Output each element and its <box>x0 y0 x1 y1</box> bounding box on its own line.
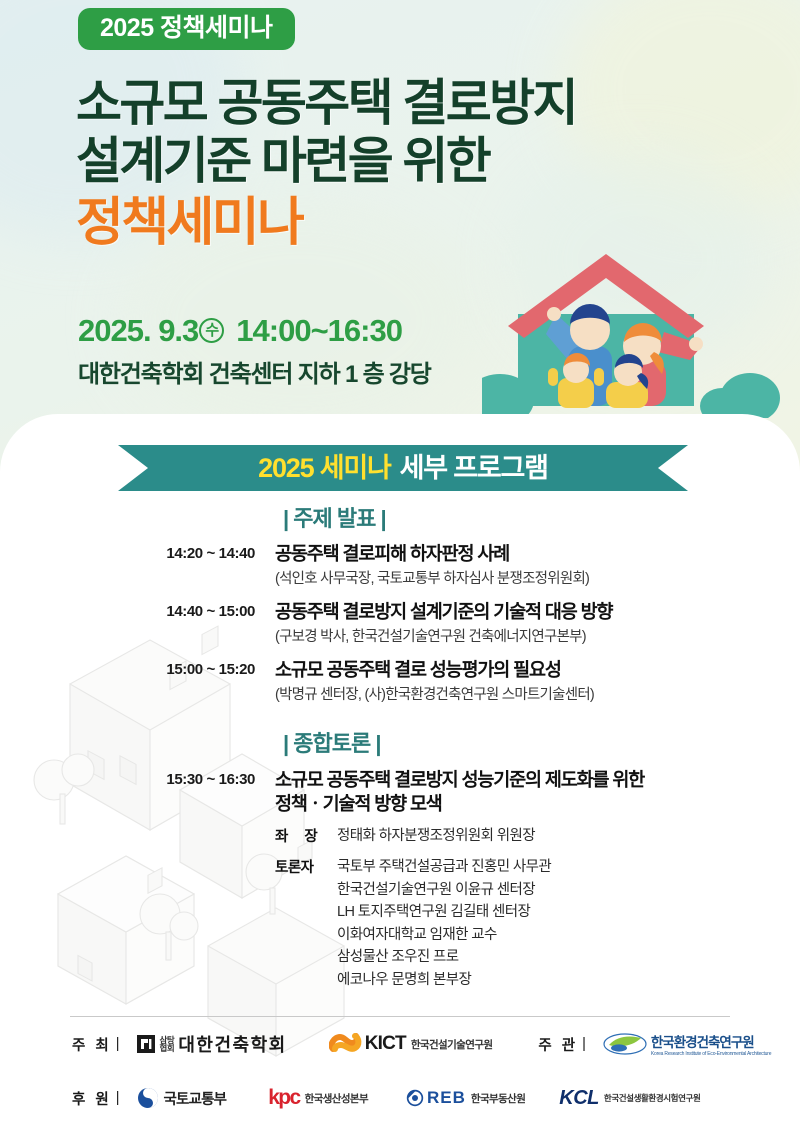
panelist-item: 에코나우 문명희 본부장 <box>337 969 551 991</box>
ribbon-label: 2025 세미나 세부 프로그램 <box>118 445 688 491</box>
page-title: 소규모 공동주택 결로방지 설계기준 마련을 위한 정책세미나 <box>76 74 736 255</box>
session-time: 15:00 ~ 15:20 <box>140 658 275 678</box>
aik-icon <box>137 1035 155 1053</box>
sponsor-label-group: 후 원 | <box>72 1088 123 1109</box>
krie-sub: Korea Research Institute of Eco-Environm… <box>651 1052 771 1058</box>
seminar-badge: 2025 정책세미나 <box>78 8 295 50</box>
chair-label: 좌 장 <box>275 825 337 846</box>
discussion-title-line-1: 소규모 공동주택 결로방지 성능기준의 제도화를 위한 <box>275 768 705 792</box>
section-heading-discussion: | 종합토론 | <box>283 731 800 757</box>
kpc-name: 한국생산성본부 <box>305 1091 368 1106</box>
seminar-poster: 2025 정책세미나 소규모 공동주택 결로방지 설계기준 마련을 위한 정책세… <box>0 0 800 1131</box>
session-speaker: (구보경 박사, 한국건설기술연구원 건축에너지연구본부) <box>275 628 800 648</box>
session-row: 14:40 ~ 15:00 공동주택 결로방지 설계기준의 기술적 대응 방향 … <box>0 600 800 648</box>
krie-icon <box>603 1032 647 1056</box>
reb-word: REB <box>427 1088 466 1108</box>
program-ribbon: 2025 세미나 세부 프로그램 <box>118 445 688 491</box>
panelist-item: 국토부 주택건설공급과 진홍민 사무관 <box>337 856 551 878</box>
aik-mark-icon <box>137 1035 155 1053</box>
logo-aik: 삼탕협회 대한건축학회 <box>137 1031 287 1057</box>
aik-name: 대한건축학회 <box>178 1031 286 1057</box>
label-pipe: | <box>116 1090 123 1106</box>
panelist-item: 한국건설기술연구원 이윤규 센터장 <box>337 879 551 901</box>
krie-text-block: 한국환경건축연구원 Korea Research Institute of Ec… <box>651 1031 771 1058</box>
taegeuk-icon <box>137 1087 159 1109</box>
session-time: 14:20 ~ 14:40 <box>140 542 275 562</box>
organizer-label: 주 관 <box>538 1034 578 1055</box>
session-speaker: (박명규 센터장, (사)한국환경건축연구원 스마트기술센터) <box>275 686 800 706</box>
logo-kict: KICT 한국건설기술연구원 <box>329 1031 493 1057</box>
logo-krie: 한국환경건축연구원 Korea Research Institute of Ec… <box>603 1031 771 1058</box>
panelist-item: LH 토지주택연구원 김길태 센터장 <box>337 901 551 923</box>
panelists-label: 토론자 <box>275 856 337 877</box>
session-title: 소규모 공동주택 결로 성능평가의 필요성 <box>275 658 800 682</box>
kict-icon <box>329 1031 363 1057</box>
house-family-svg <box>482 248 782 418</box>
chair-value: 정태화 하자분쟁조정위원회 위원장 <box>337 825 535 847</box>
event-meta: 2025. 9.3 수 14:00~16:30 대한건축학회 건축센터 지하 1… <box>78 313 431 389</box>
family-house-illustration <box>482 248 782 418</box>
logo-reb: REB 한국부동산원 <box>406 1088 525 1108</box>
event-time: 14:00~16:30 <box>236 313 402 349</box>
kict-word: KICT <box>365 1033 406 1055</box>
chair-row: 좌 장 정태화 하자분쟁조정위원회 위원장 <box>275 825 800 847</box>
logo-molit: 국토교통부 <box>137 1087 227 1109</box>
logo-kpc: kpc 한국생산성본부 <box>268 1086 368 1110</box>
aik-sub-mark: 삼탕협회 <box>160 1036 175 1053</box>
discussion-title-line-2: 정책ㆍ기술적 방향 모색 <box>275 792 705 816</box>
krie-mark-icon <box>603 1032 647 1056</box>
organizer-label-group: 주 관 | <box>538 1034 589 1055</box>
footer-sponsor-row: 후 원 | 국토교통부 kpc 한국생산성본부 <box>0 1086 800 1110</box>
reb-name: 한국부동산원 <box>471 1091 525 1106</box>
session-title: 공동주택 결로피해 하자판정 사례 <box>275 542 800 566</box>
host-label: 주 최 <box>72 1034 112 1055</box>
kcl-word: KCL <box>559 1087 599 1110</box>
day-of-week-badge: 수 <box>199 318 224 343</box>
session-time: 14:40 ~ 15:00 <box>140 600 275 620</box>
ribbon-year: 2025 세미나 <box>258 455 391 482</box>
reb-icon <box>406 1089 424 1107</box>
event-place: 대한건축학회 건축센터 지하 1 층 강당 <box>78 354 431 389</box>
kcl-name: 한국건설생활환경시험연구원 <box>604 1092 700 1104</box>
panelists-list: 국토부 주택건설공급과 진홍민 사무관 한국건설기술연구원 이윤규 센터장 LH… <box>337 856 551 991</box>
program-list: | 주제 발표 | 14:20 ~ 14:40 공동주택 결로피해 하자판정 사… <box>0 506 800 991</box>
discussion-row: 15:30 ~ 16:30 소규모 공동주택 결로방지 성능기준의 제도화를 위… <box>0 768 800 991</box>
event-datetime: 2025. 9.3 수 14:00~16:30 <box>78 313 431 349</box>
host-label-group: 주 최 | <box>72 1034 123 1055</box>
panelist-item: 삼성물산 조우진 프로 <box>337 946 551 968</box>
logo-kcl: KCL 한국건설생활환경시험연구원 <box>559 1087 700 1110</box>
session-title: 공동주택 결로방지 설계기준의 기술적 대응 방향 <box>275 600 800 624</box>
session-speaker: (석인호 사무국장, 국토교통부 하자심사 분쟁조정위원회) <box>275 570 800 590</box>
title-accent: 정책세미나 <box>76 192 736 255</box>
molit-name: 국토교통부 <box>164 1088 227 1109</box>
label-pipe: | <box>116 1036 123 1052</box>
discussion-time: 15:30 ~ 16:30 <box>140 768 275 788</box>
reb-mark-icon <box>406 1089 424 1107</box>
footer-divider <box>70 1016 730 1017</box>
title-line-2: 설계기준 마련을 위한 <box>76 132 736 190</box>
kict-name: 한국건설기술연구원 <box>411 1037 493 1052</box>
panelists-row: 토론자 국토부 주택건설공급과 진홍민 사무관 한국건설기술연구원 이윤규 센터… <box>275 856 800 991</box>
session-row: 15:00 ~ 15:20 소규모 공동주택 결로 성능평가의 필요성 (박명규… <box>0 658 800 706</box>
krie-name: 한국환경건축연구원 <box>651 1035 754 1050</box>
sponsor-label: 후 원 <box>72 1088 112 1109</box>
kict-mark-icon <box>329 1031 363 1057</box>
kpc-word: kpc <box>268 1086 299 1110</box>
session-row: 14:20 ~ 14:40 공동주택 결로피해 하자판정 사례 (석인호 사무국… <box>0 542 800 590</box>
panelist-item: 이화여자대학교 임재한 교수 <box>337 924 551 946</box>
title-line-1: 소규모 공동주택 결로방지 <box>76 74 736 132</box>
event-date: 2025. 9.3 <box>78 313 198 349</box>
section-heading-presentation: | 주제 발표 | <box>283 506 800 532</box>
footer-host-row: 주 최 | 삼탕협회 대한건축학회 <box>0 1031 800 1058</box>
ribbon-rest: 세부 프로그램 <box>400 455 548 482</box>
program-panel: 2025 세미나 세부 프로그램 | 주제 발표 | 14:20 ~ 14:40… <box>0 414 800 1131</box>
label-pipe: | <box>582 1036 589 1052</box>
molit-taegeuk-icon <box>137 1087 159 1109</box>
